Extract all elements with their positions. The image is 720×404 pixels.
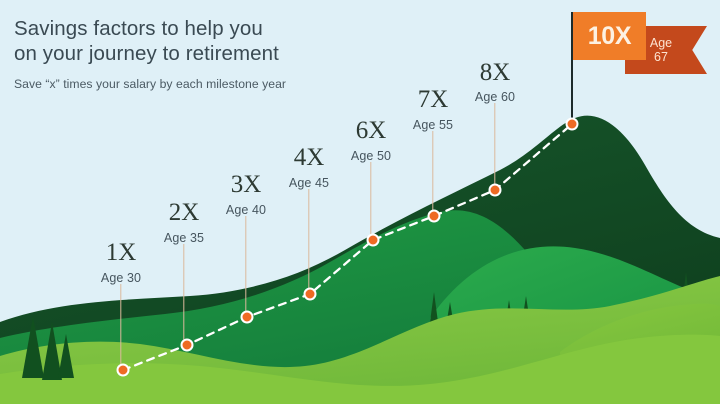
flag-age-label: Age 67: [625, 26, 697, 74]
flag-age-word: Age: [650, 36, 672, 50]
milestone-age-label: Age 55: [413, 119, 453, 132]
milestone-stem: [245, 216, 246, 317]
milestone-dot[interactable]: [428, 210, 441, 223]
milestone-age-label: Age 35: [164, 232, 204, 245]
milestone-stem: [494, 103, 495, 190]
milestone-stem: [370, 162, 371, 240]
milestone-age-label: Age 40: [226, 204, 266, 217]
retirement-flag[interactable]: 10X Age 67: [573, 12, 703, 74]
milestone-dot[interactable]: [489, 184, 502, 197]
milestone-factor-label: 8X: [480, 60, 511, 85]
milestone-stem: [120, 284, 121, 370]
milestone-stem: [308, 189, 309, 294]
milestone-age-label: Age 30: [101, 272, 141, 285]
milestone-factor-label: 2X: [169, 200, 200, 225]
milestone-factor-label: 3X: [231, 172, 262, 197]
flag-age-value: 67: [654, 50, 668, 64]
milestone-factor-label: 1X: [106, 240, 137, 265]
milestone-stem: [183, 244, 184, 345]
milestone-stem: [432, 131, 433, 216]
milestone-factor-label: 4X: [294, 145, 325, 170]
milestone-dot[interactable]: [181, 339, 194, 352]
milestone-dot[interactable]: [117, 364, 130, 377]
milestone-dot[interactable]: [241, 311, 254, 324]
milestone-dot[interactable]: [304, 288, 317, 301]
milestone-dot[interactable]: [566, 118, 579, 131]
milestone-dot[interactable]: [367, 234, 380, 247]
page-subtitle: Save “x” times your salary by each miles…: [14, 77, 286, 91]
milestone-age-label: Age 50: [351, 150, 391, 163]
page-title: Savings factors to help you on your jour…: [14, 16, 286, 66]
milestone-factor-label: 6X: [356, 118, 387, 143]
infographic-root: Savings factors to help you on your jour…: [0, 0, 720, 404]
milestone-factor-label: 7X: [418, 87, 449, 112]
milestone-age-label: Age 45: [289, 177, 329, 190]
milestone-age-label: Age 60: [475, 91, 515, 104]
header: Savings factors to help you on your jour…: [14, 16, 286, 91]
